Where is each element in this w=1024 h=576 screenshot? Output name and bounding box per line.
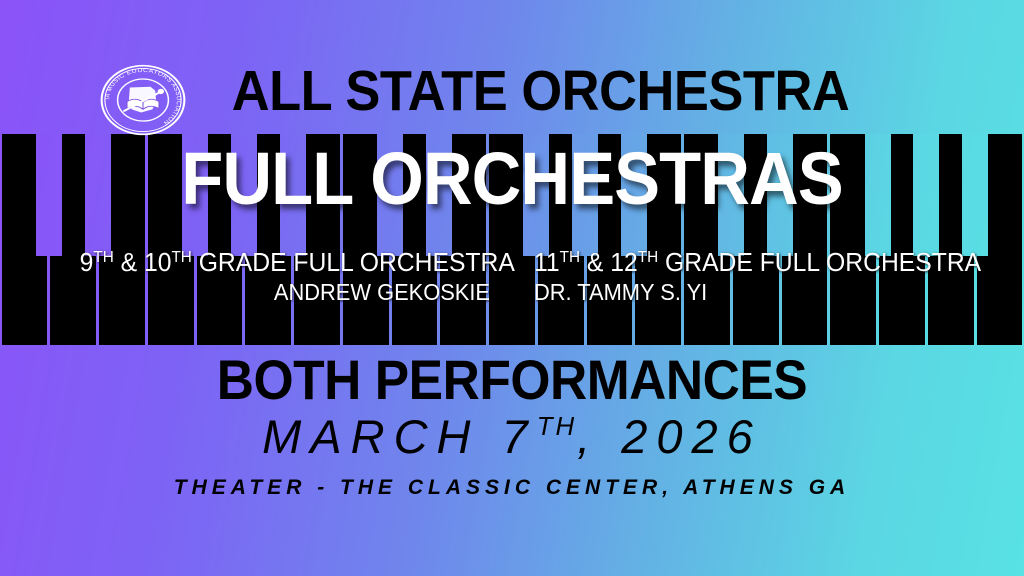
conductor-name-11-12: DR. TAMMY S. YI	[534, 279, 944, 307]
grade-ampersand-right: &	[580, 247, 610, 277]
grade-suffix-right: GRADE FULL ORCHESTRA	[658, 247, 981, 277]
ensemble-grade-label-11-12: 11TH & 12TH GRADE FULL ORCHESTRA	[534, 248, 944, 276]
grade-number-9: 9	[80, 247, 94, 277]
main-title-full-orchestras: FULL ORCHESTRAS	[36, 142, 988, 216]
date-year: , 2026	[577, 410, 762, 463]
ensemble-block-9-10: 9TH & 10TH GRADE FULL ORCHESTRA ANDREW G…	[58, 248, 490, 307]
event-venue: THEATER - THE CLASSIC CENTER, ATHENS GA	[0, 476, 1024, 499]
date-day: 7	[502, 410, 537, 463]
grade-suffix-left: GRADE FULL ORCHESTRA	[192, 247, 515, 277]
grade-ordinal-9: TH	[93, 248, 113, 266]
grade-ordinal-11: TH	[560, 248, 580, 266]
ensemble-block-11-12: 11TH & 12TH GRADE FULL ORCHESTRA DR. TAM…	[534, 248, 966, 307]
poster-canvas: GEORGIA MUSIC EDUCATORS ASSOCIATION ALL …	[0, 0, 1024, 576]
grade-number-12: 12	[610, 247, 637, 277]
grade-ordinal-10: TH	[171, 248, 191, 266]
date-day-ordinal: TH	[537, 413, 577, 441]
conductor-name-9-10: ANDREW GEKOSKIE	[80, 279, 490, 307]
date-month: MARCH	[262, 410, 501, 463]
grade-number-10: 10	[144, 247, 171, 277]
page-title-all-state-orchestra: ALL STATE ORCHESTRA	[41, 63, 983, 120]
grade-ampersand-left: &	[114, 247, 144, 277]
grade-number-11: 11	[534, 247, 560, 277]
ensemble-grade-label-9-10: 9TH & 10TH GRADE FULL ORCHESTRA	[80, 248, 490, 276]
grade-ordinal-12: TH	[638, 248, 658, 266]
both-performances-heading: BOTH PERFORMANCES	[41, 352, 983, 408]
event-date: MARCH 7TH, 2026	[0, 412, 1024, 461]
